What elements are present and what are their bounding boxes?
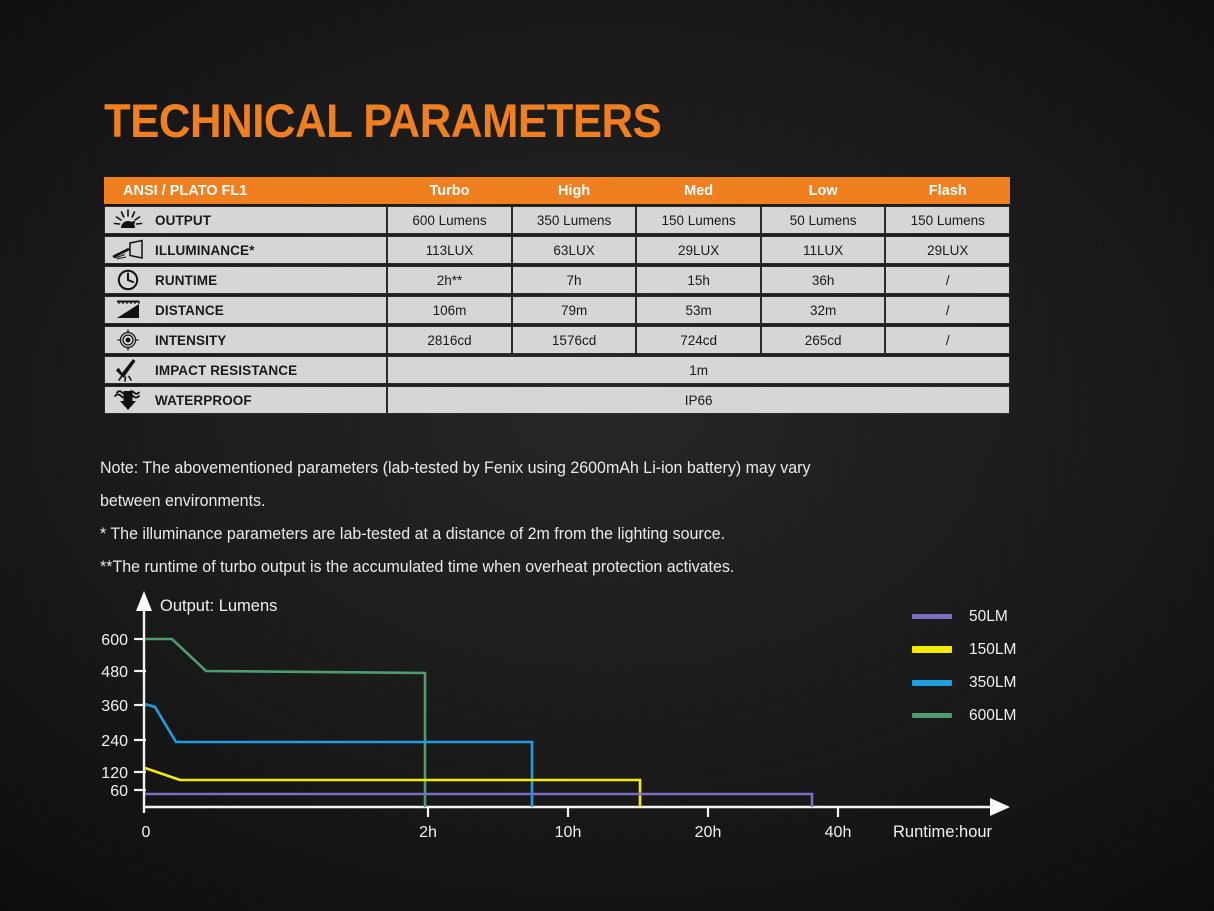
cell-waterproof-value: IP66 xyxy=(387,386,1010,414)
legend-label: 350LM xyxy=(969,674,1016,692)
cell-output-low: 50 Lumens xyxy=(761,206,886,234)
series-line-350lm xyxy=(145,704,532,807)
x-tick-labels: 0 2h 10h 20h 40h xyxy=(142,824,852,841)
table-row: WATERPROOF IP66 xyxy=(104,386,1010,414)
x-tick-label: 0 xyxy=(142,824,151,841)
table-row: DISTANCE 106m 79m 53m 32m / xyxy=(104,296,1010,324)
table-row: OUTPUT 600 Lumens 350 Lumens 150 Lumens … xyxy=(104,206,1010,234)
legend-swatch-600lm xyxy=(912,713,952,718)
target-icon xyxy=(105,327,151,353)
y-tick-label: 360 xyxy=(101,698,128,715)
y-tick-label: 120 xyxy=(101,765,128,782)
row-label-intensity: INTENSITY xyxy=(104,326,387,354)
cell-distance-low: 32m xyxy=(761,296,886,324)
cell-illuminance-flash: 29LUX xyxy=(885,236,1010,264)
note-line-4: **The runtime of turbo output is the acc… xyxy=(100,551,992,584)
x-tick-label: 20h xyxy=(695,824,722,841)
legend-item: 600LM xyxy=(912,699,1092,732)
legend-swatch-50lm xyxy=(912,614,952,619)
header-low: Low xyxy=(761,177,886,204)
table-header-row: ANSI / PLATO FL1 Turbo High Med Low Flas… xyxy=(104,177,1010,204)
page-title: TECHNICAL PARAMETERS xyxy=(104,96,661,145)
legend-item: 150LM xyxy=(912,633,1092,666)
cell-distance-turbo: 106m xyxy=(387,296,512,324)
row-label-text: RUNTIME xyxy=(151,273,217,288)
legend-item: 50LM xyxy=(912,600,1092,633)
row-label-text: DISTANCE xyxy=(151,303,224,318)
legend-label: 150LM xyxy=(969,641,1016,659)
cell-intensity-low: 265cd xyxy=(761,326,886,354)
note-line-3: * The illuminance parameters are lab-tes… xyxy=(100,518,992,551)
x-tick-label: 2h xyxy=(419,824,437,841)
y-tick-label: 480 xyxy=(101,664,128,681)
row-label-distance: DISTANCE xyxy=(104,296,387,324)
table-row: INTENSITY 2816cd 1576cd 724cd 265cd / xyxy=(104,326,1010,354)
cell-output-flash: 150 Lumens xyxy=(885,206,1010,234)
table-row: ILLUMINANCE* 113LUX 63LUX 29LUX 11LUX 29… xyxy=(104,236,1010,264)
clock-icon xyxy=(105,267,151,293)
series-line-50lm xyxy=(145,794,812,807)
row-label-text: INTENSITY xyxy=(151,333,226,348)
cell-runtime-med: 15h xyxy=(636,266,761,294)
table-header: ANSI / PLATO FL1 Turbo High Med Low Flas… xyxy=(104,177,1010,204)
cell-runtime-low: 36h xyxy=(761,266,886,294)
series-line-600lm xyxy=(145,639,425,807)
cell-impact-resistance-value: 1m xyxy=(387,356,1010,384)
note-line-1: Note: The abovementioned parameters (lab… xyxy=(100,452,992,485)
cell-output-turbo: 600 Lumens xyxy=(387,206,512,234)
notes-block: Note: The abovementioned parameters (lab… xyxy=(100,452,992,584)
cell-runtime-turbo: 2h** xyxy=(387,266,512,294)
waterproof-icon xyxy=(105,387,151,413)
impact-icon xyxy=(105,357,151,383)
cell-illuminance-med: 29LUX xyxy=(636,236,761,264)
cell-output-high: 350 Lumens xyxy=(512,206,637,234)
x-axis-arrow xyxy=(990,798,1010,816)
legend-label: 600LM xyxy=(969,707,1016,725)
sunburst-icon xyxy=(105,207,151,233)
cell-distance-flash: / xyxy=(885,296,1010,324)
y-axis-arrow xyxy=(136,591,152,611)
cell-intensity-flash: / xyxy=(885,326,1010,354)
header-ansi-plato: ANSI / PLATO FL1 xyxy=(104,177,387,204)
x-tick-marks xyxy=(428,807,838,817)
cell-illuminance-low: 11LUX xyxy=(761,236,886,264)
legend-swatch-350lm xyxy=(912,680,952,686)
cell-intensity-turbo: 2816cd xyxy=(387,326,512,354)
table-body: OUTPUT 600 Lumens 350 Lumens 150 Lumens … xyxy=(104,206,1010,414)
legend-item: 350LM xyxy=(912,666,1092,699)
row-label-text: ILLUMINANCE* xyxy=(151,243,254,258)
row-label-text: OUTPUT xyxy=(151,213,211,228)
row-label-output: OUTPUT xyxy=(104,206,387,234)
chart-y-axis-title: Output: Lumens xyxy=(160,597,277,615)
row-label-text: IMPACT RESISTANCE xyxy=(151,363,297,378)
header-turbo: Turbo xyxy=(387,177,512,204)
technical-parameters-table: ANSI / PLATO FL1 Turbo High Med Low Flas… xyxy=(104,175,1010,416)
x-tick-label: 40h xyxy=(825,824,852,841)
x-tick-label: 10h xyxy=(555,824,582,841)
cell-distance-med: 53m xyxy=(636,296,761,324)
y-tick-label: 600 xyxy=(101,632,128,649)
table-row: IMPACT RESISTANCE 1m xyxy=(104,356,1010,384)
row-label-text: WATERPROOF xyxy=(151,393,252,408)
cell-intensity-high: 1576cd xyxy=(512,326,637,354)
y-tick-label: 60 xyxy=(110,783,128,800)
row-label-waterproof: WATERPROOF xyxy=(104,386,387,414)
cell-intensity-med: 724cd xyxy=(636,326,761,354)
y-tick-labels: 600 480 360 240 120 60 xyxy=(101,632,128,800)
row-label-impact-resistance: IMPACT RESISTANCE xyxy=(104,356,387,384)
cell-runtime-flash: / xyxy=(885,266,1010,294)
header-med: Med xyxy=(636,177,761,204)
y-tick-label: 240 xyxy=(101,733,128,750)
row-label-illuminance: ILLUMINANCE* xyxy=(104,236,387,264)
beam-cone-icon xyxy=(105,237,151,263)
legend-label: 50LM xyxy=(969,608,1008,626)
cell-illuminance-turbo: 113LUX xyxy=(387,236,512,264)
legend-swatch-150lm xyxy=(912,646,952,653)
chart-legend: 50LM 150LM 350LM 600LM xyxy=(912,600,1092,732)
note-line-2: between environments. xyxy=(100,485,992,518)
cell-distance-high: 79m xyxy=(512,296,637,324)
row-label-runtime: RUNTIME xyxy=(104,266,387,294)
header-flash: Flash xyxy=(885,177,1010,204)
header-high: High xyxy=(512,177,637,204)
cell-illuminance-high: 63LUX xyxy=(512,236,637,264)
cell-output-med: 150 Lumens xyxy=(636,206,761,234)
distance-icon xyxy=(105,297,151,323)
chart-x-axis-title: Runtime:hour xyxy=(893,823,993,841)
cell-runtime-high: 7h xyxy=(512,266,637,294)
series-line-150lm xyxy=(145,768,640,807)
spec-sheet-page: TECHNICAL PARAMETERS ANSI / PLATO FL1 Tu… xyxy=(0,0,1214,911)
table-row: RUNTIME 2h** 7h 15h 36h / xyxy=(104,266,1010,294)
